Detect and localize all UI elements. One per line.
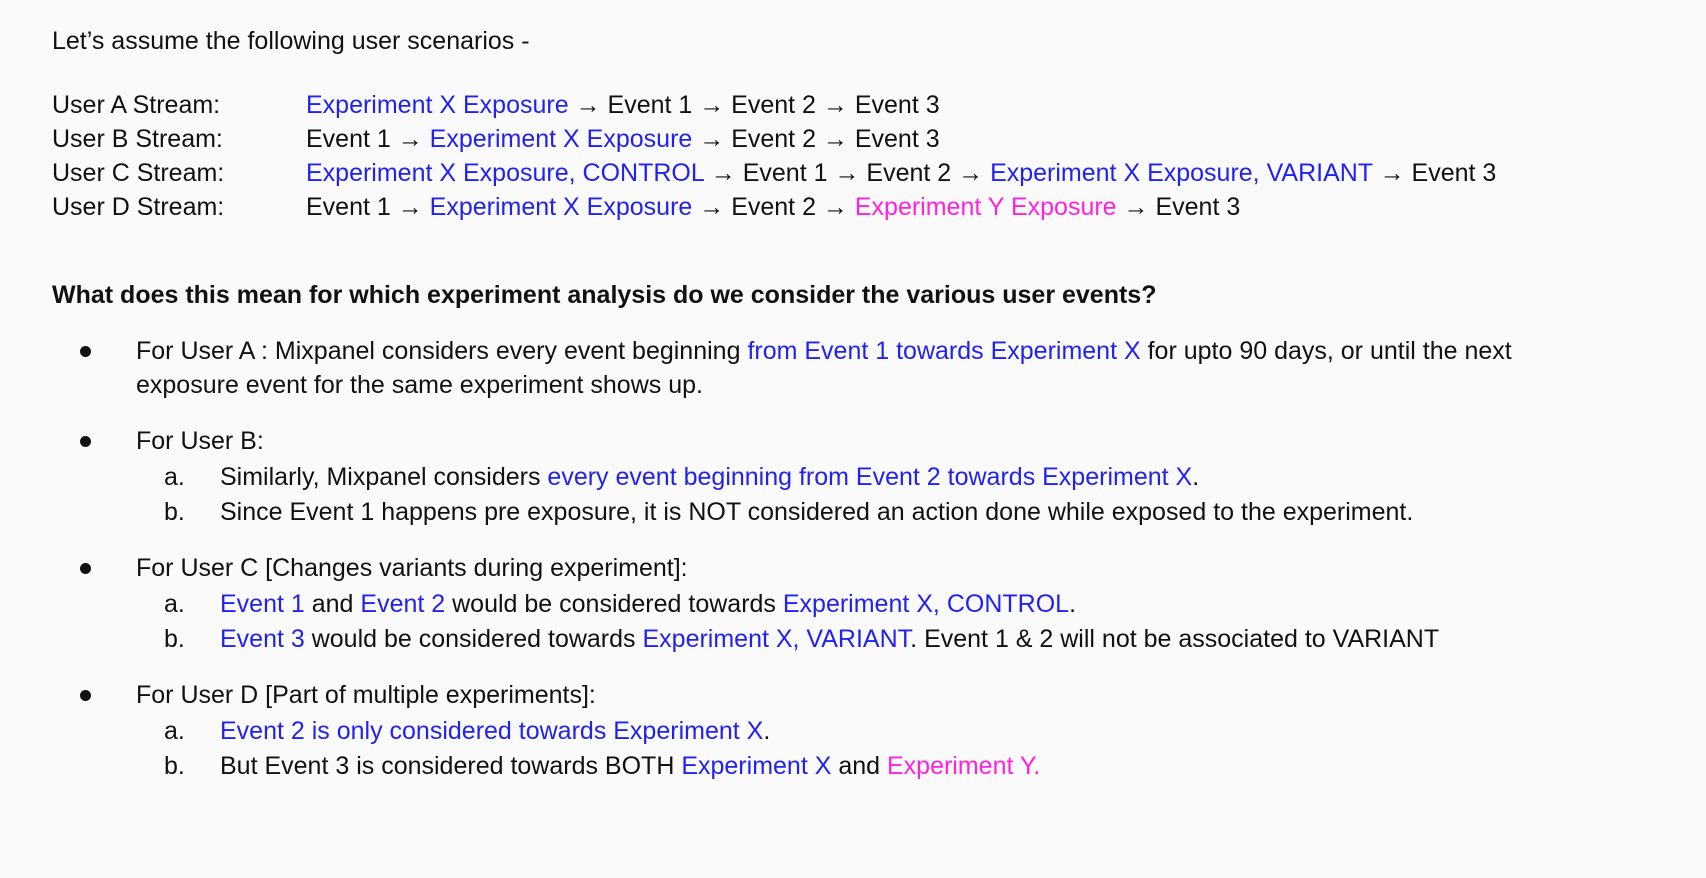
sub-1-0-segment-0: Similarly, Mixpanel considers (220, 463, 547, 491)
sub-3-1-segment-0: But Event 3 is considered towards BOTH (220, 752, 681, 780)
bullet-3-segment-0: For User D [Part of multiple experiments… (136, 681, 596, 709)
user-streams-body: User A Stream:Experiment X Exposure → Ev… (52, 88, 1496, 224)
stream-3-segment-2: → Event 2 → (692, 193, 855, 221)
stream-3-segment-0: Event 1 → (306, 193, 430, 221)
sub-3-1-segment-2: and (831, 752, 887, 780)
sub-2-0-segment-0: Event 1 (220, 590, 305, 618)
sub-2-1-segment-1: would be considered towards (305, 625, 643, 653)
subitem-text: But Event 3 is considered towards BOTH E… (220, 752, 1040, 780)
bullet-item-user-b: For User B:a.Similarly, Mixpanel conside… (52, 424, 1676, 529)
subitem-user-b-b: b.Since Event 1 happens pre exposure, it… (52, 495, 1676, 529)
stream-3-segment-4: → Event 3 (1117, 193, 1241, 221)
subitem-marker: b. (164, 749, 185, 783)
subitem-marker: a. (164, 714, 185, 748)
sub-3-0-segment-0: Event 2 is only considered towards Exper… (220, 717, 763, 745)
subitem-user-b-a: a.Similarly, Mixpanel considers every ev… (52, 460, 1676, 494)
bullet-text-user-c: For User C [Changes variants during expe… (136, 551, 1606, 585)
stream-2-segment-2: Experiment X Exposure, VARIANT (990, 159, 1373, 187)
subitem-user-c-b: b.Event 3 would be considered towards Ex… (52, 622, 1676, 656)
sub-1-1-segment-0: Since Event 1 happens pre exposure, it i… (220, 498, 1413, 526)
sublist-user-c: a.Event 1 and Event 2 would be considere… (52, 587, 1676, 656)
sublist-user-b: a.Similarly, Mixpanel considers every ev… (52, 460, 1676, 529)
subitem-marker: a. (164, 460, 185, 494)
bullet-dot-icon (80, 436, 91, 447)
subitem-marker: a. (164, 587, 185, 621)
sub-3-1-segment-3: Experiment Y. (887, 752, 1040, 780)
stream-row: User D Stream:Event 1 → Experiment X Exp… (52, 190, 1496, 224)
bullet-dot-icon (80, 690, 91, 701)
stream-3-segment-1: Experiment X Exposure (430, 193, 693, 221)
bullet-item-user-d: For User D [Part of multiple experiments… (52, 678, 1676, 783)
bullet-main-user-b: For User B: (52, 424, 1676, 458)
subitem-user-c-a: a.Event 1 and Event 2 would be considere… (52, 587, 1676, 621)
sub-3-1-segment-1: Experiment X (681, 752, 831, 780)
bullet-main-user-c: For User C [Changes variants during expe… (52, 551, 1676, 585)
subitem-text: Event 3 would be considered towards Expe… (220, 625, 1439, 653)
document-page: Let’s assume the following user scenario… (0, 0, 1706, 878)
bullet-text-user-a: For User A : Mixpanel considers every ev… (136, 334, 1606, 402)
stream-label: User C Stream: (52, 156, 306, 190)
bullet-item-user-a: For User A : Mixpanel considers every ev… (52, 334, 1676, 402)
subitem-user-d-a: a.Event 2 is only considered towards Exp… (52, 714, 1676, 748)
stream-2-segment-0: Experiment X Exposure, CONTROL (306, 159, 704, 187)
user-streams-table: User A Stream:Experiment X Exposure → Ev… (52, 88, 1496, 224)
stream-0-segment-0: Experiment X Exposure (306, 91, 569, 119)
stream-0-segment-1: → Event 1 → Event 2 → Event 3 (569, 91, 940, 119)
sub-2-0-segment-3: would be considered towards (445, 590, 783, 618)
sub-2-0-segment-1: and (305, 590, 361, 618)
stream-label: User D Stream: (52, 190, 306, 224)
subitem-marker: b. (164, 495, 185, 529)
stream-flow: Experiment X Exposure, CONTROL → Event 1… (306, 156, 1496, 190)
stream-2-segment-3: → Event 3 (1373, 159, 1497, 187)
bullet-text-user-b: For User B: (136, 424, 1606, 458)
stream-1-segment-2: → Event 2 → Event 3 (692, 125, 939, 153)
bullet-1-segment-0: For User B: (136, 427, 264, 455)
sub-2-1-segment-2: Experiment X, VARIANT (642, 625, 910, 653)
sub-2-1-segment-3: . Event 1 & 2 will not be associated to … (910, 625, 1439, 653)
stream-label: User B Stream: (52, 122, 306, 156)
sub-1-0-segment-2: . (1192, 463, 1199, 491)
bullet-0-segment-0: For User A : Mixpanel considers every ev… (136, 337, 747, 365)
subitem-text: Event 2 is only considered towards Exper… (220, 717, 770, 745)
bullet-main-user-a: For User A : Mixpanel considers every ev… (52, 334, 1676, 402)
bullet-dot-icon (80, 346, 91, 357)
stream-label: User A Stream: (52, 88, 306, 122)
stream-flow: Event 1 → Experiment X Exposure → Event … (306, 122, 1496, 156)
bullet-main-user-d: For User D [Part of multiple experiments… (52, 678, 1676, 712)
sub-2-0-segment-2: Event 2 (360, 590, 445, 618)
bullet-item-user-c: For User C [Changes variants during expe… (52, 551, 1676, 656)
intro-paragraph: Let’s assume the following user scenario… (52, 24, 1676, 58)
stream-row: User B Stream:Event 1 → Experiment X Exp… (52, 122, 1496, 156)
stream-3-segment-3: Experiment Y Exposure (855, 193, 1117, 221)
bullet-dot-icon (80, 563, 91, 574)
stream-2-segment-1: → Event 1 → Event 2 → (704, 159, 990, 187)
bullet-0-segment-1: from Event 1 towards Experiment X (747, 337, 1140, 365)
stream-flow: Experiment X Exposure → Event 1 → Event … (306, 88, 1496, 122)
sub-1-0-segment-1: every event beginning from Event 2 towar… (547, 463, 1192, 491)
stream-1-segment-1: Experiment X Exposure (430, 125, 693, 153)
question-heading: What does this mean for which experiment… (52, 278, 1676, 312)
subitem-text: Event 1 and Event 2 would be considered … (220, 590, 1076, 618)
sub-2-1-segment-0: Event 3 (220, 625, 305, 653)
sublist-user-d: a.Event 2 is only considered towards Exp… (52, 714, 1676, 783)
sub-3-0-segment-1: . (763, 717, 770, 745)
subitem-marker: b. (164, 622, 185, 656)
sub-2-0-segment-5: . (1069, 590, 1076, 618)
sub-2-0-segment-4: Experiment X, CONTROL (783, 590, 1069, 618)
explanation-list: For User A : Mixpanel considers every ev… (52, 334, 1676, 783)
subitem-text: Similarly, Mixpanel considers every even… (220, 463, 1199, 491)
stream-row: User C Stream:Experiment X Exposure, CON… (52, 156, 1496, 190)
subitem-text: Since Event 1 happens pre exposure, it i… (220, 498, 1413, 526)
bullet-2-segment-0: For User C [Changes variants during expe… (136, 554, 688, 582)
stream-1-segment-0: Event 1 → (306, 125, 430, 153)
bullet-text-user-d: For User D [Part of multiple experiments… (136, 678, 1606, 712)
stream-row: User A Stream:Experiment X Exposure → Ev… (52, 88, 1496, 122)
stream-flow: Event 1 → Experiment X Exposure → Event … (306, 190, 1496, 224)
subitem-user-d-b: b.But Event 3 is considered towards BOTH… (52, 749, 1676, 783)
